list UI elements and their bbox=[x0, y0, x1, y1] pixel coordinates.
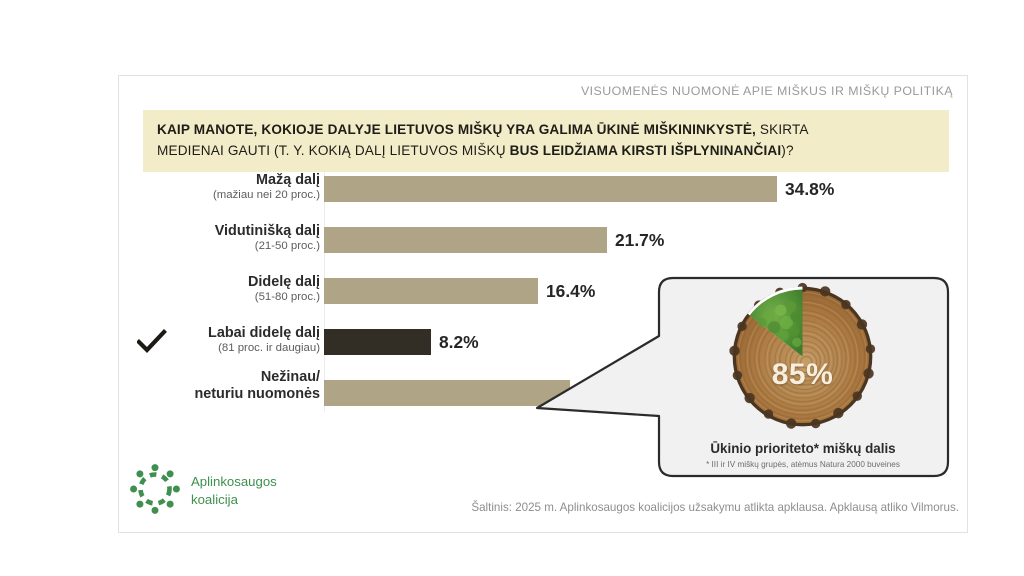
row-label-main-2: neturiu nuomonės bbox=[110, 386, 320, 403]
row-label-main: Labai didelę dalį bbox=[110, 325, 320, 342]
row-label-group: Didelę dalį (51-80 proc.) bbox=[110, 274, 320, 305]
eyebrow-title: VISUOMENĖS NUOMONĖ APIE MIŠKUS IR MIŠKŲ … bbox=[581, 84, 953, 98]
bar-highlighted[interactable] bbox=[324, 329, 431, 355]
row-label-main: Mažą dalį bbox=[110, 172, 320, 189]
row-label-main: Vidutinišką dalį bbox=[110, 223, 320, 240]
row-label-main: Didelę dalį bbox=[110, 274, 320, 291]
chart-row-maza-dali: Mažą dalį (mažiau nei 20 proc.) 34.8% bbox=[119, 172, 969, 206]
row-label-sub: (51-80 proc.) bbox=[110, 291, 320, 305]
logo-text: Aplinkosaugos koalicija bbox=[191, 473, 277, 509]
question-line-2-regular-b: )? bbox=[781, 143, 793, 158]
aplinkosaugos-koalicija-logo-icon bbox=[129, 463, 181, 515]
organization-logo: Aplinkosaugos koalicija bbox=[129, 461, 359, 523]
infographic-root: VISUOMENĖS NUOMONĖ APIE MIŠKUS IR MIŠKŲ … bbox=[0, 0, 1024, 576]
infographic-card: VISUOMENĖS NUOMONĖ APIE MIŠKUS IR MIŠKŲ … bbox=[118, 75, 968, 533]
row-label-sub: (81 proc. ir daugiau) bbox=[110, 342, 320, 356]
row-label-group: Labai didelę dalį (81 proc. ir daugiau) bbox=[110, 325, 320, 356]
bar-value-label: 34.8% bbox=[785, 179, 834, 200]
callout-footnote: * III ir IV miškų grupės, atėmus Natura … bbox=[669, 460, 937, 469]
bar[interactable] bbox=[324, 176, 777, 202]
question-line-2-regular-a: MEDIENAI GAUTI (T. Y. KOKIĄ DALĮ LIETUVO… bbox=[157, 143, 510, 158]
bar[interactable] bbox=[324, 278, 538, 304]
row-label-sub: (mažiau nei 20 proc.) bbox=[110, 189, 320, 203]
question-line-2: MEDIENAI GAUTI (T. Y. KOKIĄ DALĮ LIETUVO… bbox=[157, 140, 935, 161]
chart-row-vidutiniska-dali: Vidutinišką dalį (21-50 proc.) 21.7% bbox=[119, 223, 969, 257]
row-label-main: Nežinau/ bbox=[110, 369, 320, 386]
callout-panel: 85% Ūkinio prioriteto* miškų dalis * III… bbox=[534, 266, 964, 488]
question-banner: KAIP MANOTE, KOKIOJE DALYJE LIETUVOS MIŠ… bbox=[143, 110, 949, 172]
row-label-sub: (21-50 proc.) bbox=[110, 240, 320, 254]
bar-value-label: 21.7% bbox=[615, 230, 664, 251]
row-label-group: Nežinau/ neturiu nuomonės bbox=[110, 369, 320, 403]
tree-ring-pie-icon bbox=[727, 281, 878, 432]
callout-percent-label: 85% bbox=[727, 358, 878, 392]
question-line-1: KAIP MANOTE, KOKIOJE DALYJE LIETUVOS MIŠ… bbox=[157, 119, 935, 140]
logo-text-line1: Aplinkosaugos bbox=[191, 473, 277, 491]
question-line-1-regular: SKIRTA bbox=[756, 122, 809, 137]
source-note: Šaltinis: 2025 m. Aplinkosaugos koalicij… bbox=[429, 501, 959, 514]
bar[interactable] bbox=[324, 227, 607, 253]
question-line-2-bold: BUS LEIDŽIAMA KIRSTI IŠPLYNINANČIAI bbox=[510, 143, 782, 158]
logo-text-line2: koalicija bbox=[191, 491, 277, 509]
row-label-group: Mažą dalį (mažiau nei 20 proc.) bbox=[110, 172, 320, 203]
question-line-1-bold: KAIP MANOTE, KOKIOJE DALYJE LIETUVOS MIŠ… bbox=[157, 122, 756, 137]
callout-caption: Ūkinio prioriteto* miškų dalis bbox=[689, 441, 917, 456]
bar-value-label: 8.2% bbox=[439, 332, 479, 353]
row-label-group: Vidutinišką dalį (21-50 proc.) bbox=[110, 223, 320, 254]
